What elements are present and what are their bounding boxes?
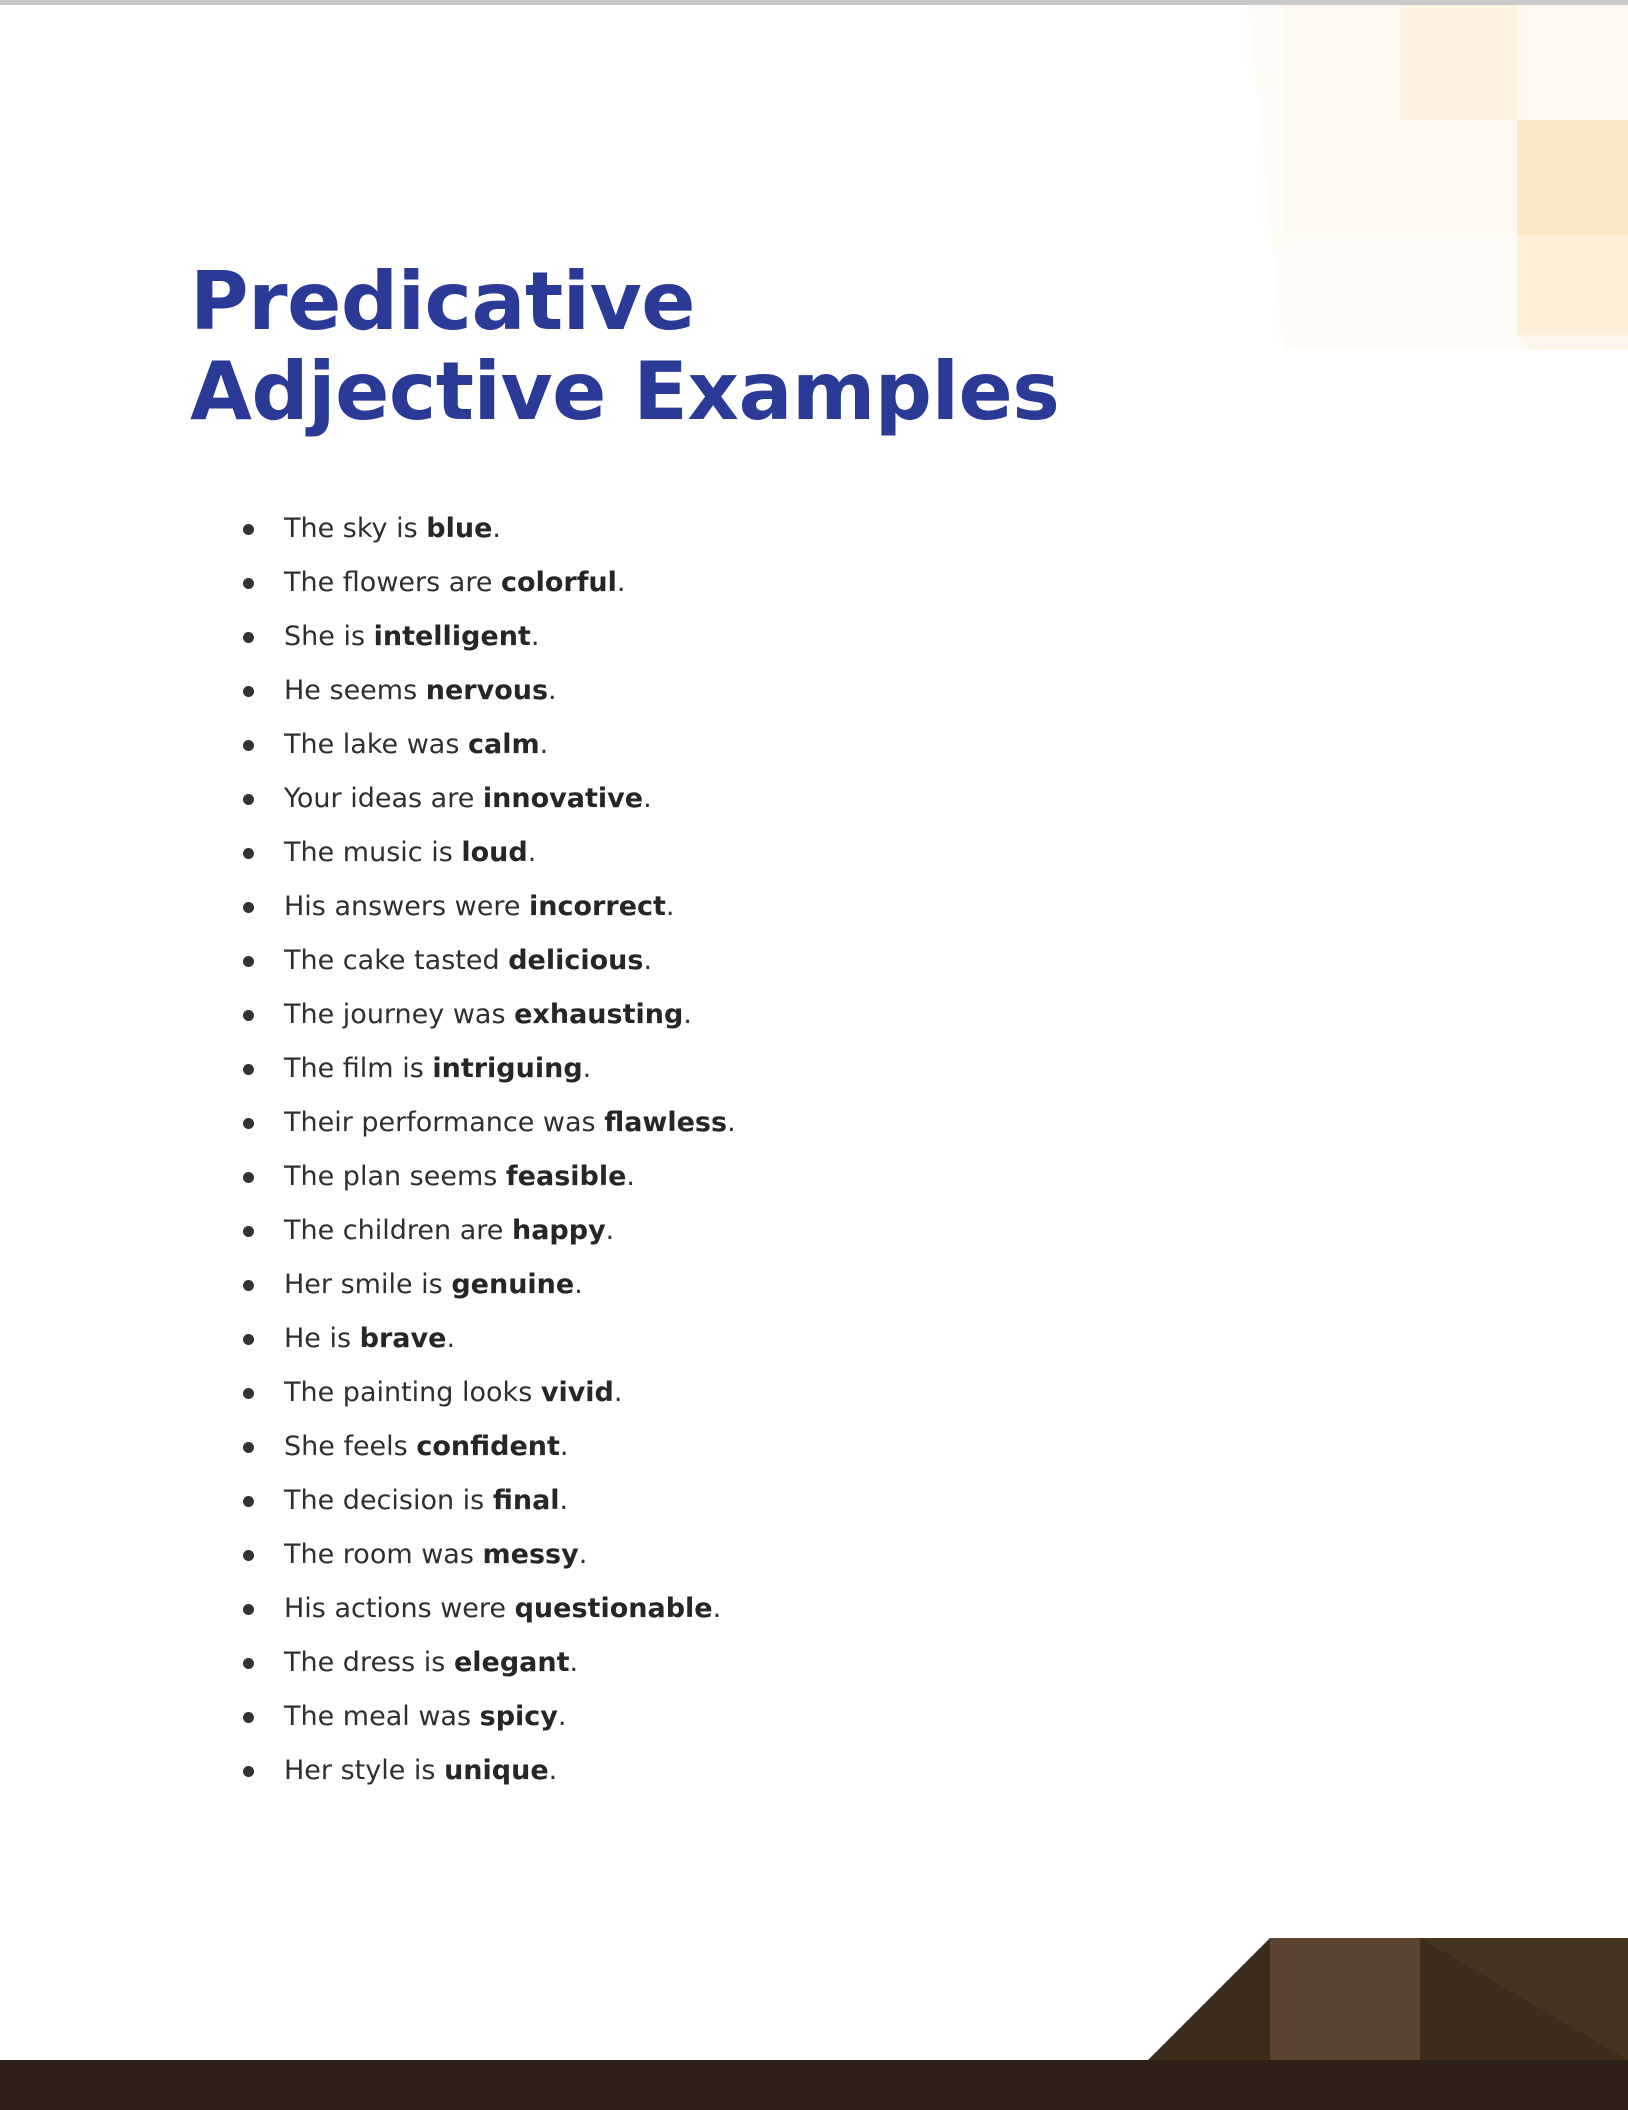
predicative-adjective: innovative <box>483 783 643 814</box>
list-item: The painting looks vivid. <box>236 1366 1436 1420</box>
sentence-prefix: She is <box>284 621 374 652</box>
predicative-adjective: calm <box>468 729 540 760</box>
sentence-prefix: The film is <box>284 1053 432 1084</box>
sentence-suffix: . <box>683 999 692 1030</box>
predicative-adjective: questionable <box>515 1593 713 1624</box>
sentence-suffix: . <box>727 1107 736 1138</box>
list-item: The dress is elegant. <box>236 1636 1436 1690</box>
sentence-suffix: . <box>713 1593 722 1624</box>
list-item: The plan seems feasible. <box>236 1150 1436 1204</box>
predicative-adjective: flawless <box>604 1107 727 1138</box>
sentence-suffix: . <box>574 1269 583 1300</box>
sentence-suffix: . <box>583 1053 592 1084</box>
predicative-adjective: messy <box>483 1539 579 1570</box>
sentence-suffix: . <box>446 1323 455 1354</box>
list-item: She feels confident. <box>236 1420 1436 1474</box>
predicative-adjective: colorful <box>501 567 617 598</box>
list-item: The film is intriguing. <box>236 1042 1436 1096</box>
list-item: The room was messy. <box>236 1528 1436 1582</box>
sentence-suffix: . <box>540 729 549 760</box>
predicative-adjective: blue <box>426 513 492 544</box>
sentence-prefix: The lake was <box>284 729 468 760</box>
sentence-prefix: She feels <box>284 1431 416 1462</box>
sentence-prefix: The music is <box>284 837 461 868</box>
predicative-adjective: loud <box>461 837 527 868</box>
list-item: The sky is blue. <box>236 502 1436 556</box>
sentence-prefix: The dress is <box>284 1647 454 1678</box>
list-item: The children are happy. <box>236 1204 1436 1258</box>
top-right-decoration <box>1248 5 1628 350</box>
predicative-adjective: brave <box>360 1323 447 1354</box>
list-item: The flowers are colorful. <box>236 556 1436 610</box>
sentence-prefix: Her smile is <box>284 1269 451 1300</box>
sentence-prefix: The plan seems <box>284 1161 506 1192</box>
predicative-adjective: feasible <box>506 1161 627 1192</box>
predicative-adjective: happy <box>512 1215 606 1246</box>
sentence-prefix: The flowers are <box>284 567 501 598</box>
predicative-adjective: elegant <box>454 1647 570 1678</box>
sentence-prefix: His actions were <box>284 1593 515 1624</box>
sentence-suffix: . <box>528 837 537 868</box>
list-item: He is brave. <box>236 1312 1436 1366</box>
sentence-prefix: The children are <box>284 1215 512 1246</box>
page-title: Predicative Adjective Examples <box>190 257 1190 438</box>
list-item: His answers were incorrect. <box>236 880 1436 934</box>
sentence-prefix: His answers were <box>284 891 529 922</box>
sentence-suffix: . <box>614 1377 623 1408</box>
sentence-prefix: He is <box>284 1323 360 1354</box>
predicative-adjective: genuine <box>451 1269 574 1300</box>
sentence-suffix: . <box>570 1647 579 1678</box>
sentence-suffix: . <box>531 621 540 652</box>
list-item: The meal was spicy. <box>236 1690 1436 1744</box>
predicative-adjective: delicious <box>508 945 643 976</box>
list-item: Your ideas are innovative. <box>236 772 1436 826</box>
sentence-suffix: . <box>492 513 501 544</box>
sentence-prefix: The painting looks <box>284 1377 541 1408</box>
predicative-adjective: vivid <box>541 1377 614 1408</box>
sentence-suffix: . <box>560 1431 569 1462</box>
sentence-prefix: The journey was <box>284 999 514 1030</box>
predicative-adjective: final <box>493 1485 560 1516</box>
sentence-prefix: Her style is <box>284 1755 444 1786</box>
predicative-adjective: spicy <box>480 1701 558 1732</box>
bottom-right-decoration <box>0 1860 1628 2110</box>
predicative-adjective: intriguing <box>432 1053 582 1084</box>
sentence-prefix: Their performance was <box>284 1107 604 1138</box>
list-item: Her smile is genuine. <box>236 1258 1436 1312</box>
list-item: Her style is unique. <box>236 1744 1436 1798</box>
sentence-suffix: . <box>617 567 626 598</box>
list-item: She is intelligent. <box>236 610 1436 664</box>
sentence-suffix: . <box>579 1539 588 1570</box>
sentence-prefix: The meal was <box>284 1701 480 1732</box>
sentence-prefix: Your ideas are <box>284 783 483 814</box>
list-item: The journey was exhausting. <box>236 988 1436 1042</box>
sentence-suffix: . <box>666 891 675 922</box>
sentence-prefix: The sky is <box>284 513 426 544</box>
sentence-suffix: . <box>643 783 652 814</box>
predicative-adjective: unique <box>444 1755 549 1786</box>
sentence-suffix: . <box>549 1755 558 1786</box>
sentence-suffix: . <box>606 1215 615 1246</box>
sentence-prefix: He seems <box>284 675 426 706</box>
predicative-adjective: confident <box>416 1431 560 1462</box>
list-item: Their performance was flawless. <box>236 1096 1436 1150</box>
predicative-adjective: incorrect <box>529 891 666 922</box>
sentence-suffix: . <box>626 1161 635 1192</box>
predicative-adjective: nervous <box>426 675 548 706</box>
sentence-prefix: The cake tasted <box>284 945 508 976</box>
list-item: The music is loud. <box>236 826 1436 880</box>
sentence-prefix: The decision is <box>284 1485 493 1516</box>
list-item: He seems nervous. <box>236 664 1436 718</box>
list-item: The lake was calm. <box>236 718 1436 772</box>
sentence-suffix: . <box>558 1701 567 1732</box>
sentence-suffix: . <box>643 945 652 976</box>
predicative-adjective: exhausting <box>514 999 683 1030</box>
sentence-suffix: . <box>560 1485 569 1516</box>
list-item: His actions were questionable. <box>236 1582 1436 1636</box>
list-item: The decision is final. <box>236 1474 1436 1528</box>
predicative-adjective: intelligent <box>374 621 531 652</box>
sentence-suffix: . <box>548 675 557 706</box>
document-page: Predicative Adjective Examples The sky i… <box>0 0 1628 2110</box>
sentence-prefix: The room was <box>284 1539 483 1570</box>
list-item: The cake tasted delicious. <box>236 934 1436 988</box>
predicative-adjective-list: The sky is blue.The flowers are colorful… <box>236 502 1436 1798</box>
